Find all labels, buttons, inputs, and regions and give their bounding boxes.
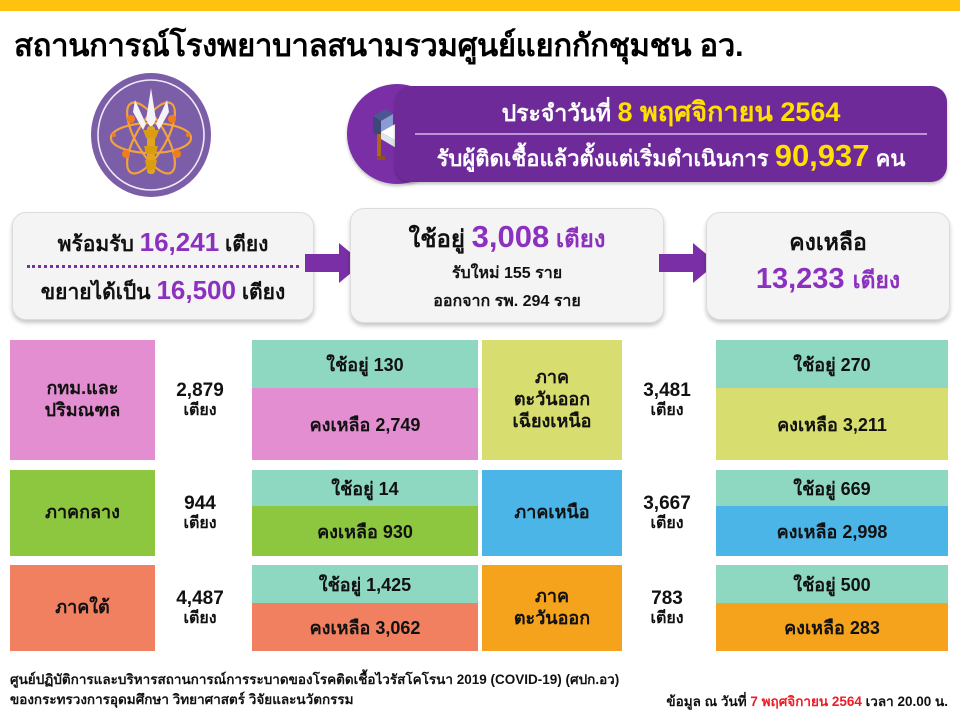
ministry-seal-logo: [88, 72, 214, 198]
region-beds-value: 2,879: [176, 381, 224, 402]
cumulative-admissions-value: 90,937: [775, 138, 870, 173]
region-beds-total-right-1: 3,481เตียง: [625, 340, 709, 460]
region-beds-total-right-3: 783เตียง: [625, 565, 709, 651]
report-date-value: 8 พฤศจิกายน 2564: [617, 97, 840, 127]
region-name-right-2: ภาคเหนือ: [482, 470, 622, 556]
region-name-right-1: ภาคตะวันออกเฉียงเหนือ: [482, 340, 622, 460]
region-beds-unit: เตียง: [183, 610, 216, 628]
region-name-left-3: ภาคใต้: [10, 565, 155, 651]
region-name-line: ภาค: [535, 586, 569, 608]
report-date-prefix: ประจำวันที่: [502, 100, 612, 126]
region-beds-value: 3,667: [643, 494, 691, 515]
region-remaining-right-1: คงเหลือ 3,211: [716, 388, 948, 460]
region-inuse-left-3: ใช้อยู่ 1,425: [252, 565, 478, 603]
footer-asof: ข้อมูล ณ วันที่ 7 พฤศจิกายน 2564 เวลา 20…: [666, 690, 948, 712]
region-beds-value: 3,481: [643, 381, 691, 402]
region-beds-value: 4,487: [176, 589, 224, 610]
region-inuse-right-1: ใช้อยู่ 270: [716, 340, 948, 388]
region-name-line: ปริมณฑล: [45, 400, 121, 422]
region-beds-unit: เตียง: [650, 610, 683, 628]
cumulative-admissions-label: รับผู้ติดเชื้อแล้วตั้งแต่เริ่มดำเนินการ: [437, 146, 769, 171]
region-name-line: ตะวันออก: [514, 389, 590, 411]
footer-line-2: ของกระทรวงการอุดมศึกษา วิทยาศาสตร์ วิจัย…: [10, 688, 354, 710]
beds-ready-box: พร้อมรับ 16,241 เตียง ขยายได้เป็น 16,500…: [12, 212, 314, 320]
region-beds-value: 944: [184, 494, 216, 515]
region-name-line: เฉียงเหนือ: [513, 411, 592, 433]
region-name-line: ภาคเหนือ: [514, 502, 589, 524]
region-beds-unit: เตียง: [183, 515, 216, 533]
beds-ready-value: 16,241: [140, 227, 220, 257]
region-beds-total-right-2: 3,667เตียง: [625, 470, 709, 556]
top-accent-bar: [0, 0, 960, 11]
beds-expandable-line: ขยายได้เป็น 16,500 เตียง: [13, 275, 313, 309]
beds-remaining-line: 13,233 เตียง: [707, 263, 949, 299]
asof-prefix: ข้อมูล ณ วันที่: [666, 694, 746, 709]
cumulative-admissions-unit: คน: [876, 146, 906, 171]
region-name-left-1: กทม.และปริมณฑล: [10, 340, 155, 460]
region-name-line: ตะวันออก: [514, 608, 590, 630]
region-name-line: ภาคกลาง: [45, 502, 120, 524]
infographic-page: สถานการณ์โรงพยาบาลสนามรวมศูนย์แยกกักชุมช…: [0, 0, 960, 720]
region-name-left-2: ภาคกลาง: [10, 470, 155, 556]
region-beds-value: 783: [651, 589, 683, 610]
beds-expandable-label: ขยายได้เป็น: [41, 281, 151, 304]
beds-ready-label: พร้อมรับ: [58, 233, 134, 256]
beds-remaining-value: 13,233: [756, 263, 845, 295]
beds-inuse-box: ใช้อยู่ 3,008 เตียง รับใหม่ 155 ราย ออกจ…: [350, 208, 664, 323]
region-beds-total-left-2: 944เตียง: [158, 470, 242, 556]
beds-ready-unit: เตียง: [225, 233, 268, 256]
new-admissions-label: รับใหม่: [452, 265, 500, 282]
discharged-value: 294: [523, 293, 550, 310]
beds-inuse-value: 3,008: [472, 219, 550, 254]
region-remaining-left-2: คงเหลือ 930: [252, 506, 478, 556]
region-inuse-left-1: ใช้อยู่ 130: [252, 340, 478, 388]
discharged-unit: ราย: [554, 293, 581, 310]
new-admissions-value: 155: [504, 265, 531, 282]
region-beds-unit: เตียง: [183, 402, 216, 420]
beds-inuse-label: ใช้อยู่: [409, 226, 465, 253]
region-beds-unit: เตียง: [650, 402, 683, 420]
beds-expandable-value: 16,500: [156, 275, 236, 305]
report-date-line: ประจำวันที่ 8 พฤศจิกายน 2564: [395, 90, 947, 133]
beds-expandable-unit: เตียง: [242, 281, 285, 304]
new-admissions-line: รับใหม่ 155 ราย: [351, 261, 663, 286]
cumulative-admissions-line: รับผู้ติดเชื้อแล้วตั้งแต่เริ่มดำเนินการ …: [395, 138, 947, 176]
footer-line-1: ศูนย์ปฏิบัติการและบริหารสถานการณ์การระบา…: [10, 668, 619, 690]
region-remaining-right-2: คงเหลือ 2,998: [716, 506, 948, 556]
region-remaining-right-3: คงเหลือ 283: [716, 603, 948, 651]
region-name-line: กทม.และ: [47, 378, 119, 400]
beds-remaining-unit: เตียง: [853, 267, 901, 293]
region-remaining-left-1: คงเหลือ 2,749: [252, 388, 478, 460]
beds-inuse-line: ใช้อยู่ 3,008 เตียง: [351, 219, 663, 258]
region-inuse-right-3: ใช้อยู่ 500: [716, 565, 948, 603]
region-inuse-left-2: ใช้อยู่ 14: [252, 470, 478, 506]
beds-remaining-label: คงเหลือ: [707, 225, 949, 261]
region-remaining-left-3: คงเหลือ 3,062: [252, 603, 478, 651]
beds-inuse-unit: เตียง: [556, 226, 606, 253]
beds-remaining-box: คงเหลือ 13,233 เตียง: [706, 212, 950, 320]
header-summary-badge: ประจำวันที่ 8 พฤศจิกายน 2564 รับผู้ติดเช…: [395, 86, 947, 182]
dotted-divider: [27, 265, 299, 268]
region-beds-total-left-3: 4,487เตียง: [158, 565, 242, 651]
asof-time: 20.00 น.: [897, 694, 948, 709]
page-title: สถานการณ์โรงพยาบาลสนามรวมศูนย์แยกกักชุมช…: [14, 20, 944, 70]
discharged-line: ออกจาก รพ. 294 ราย: [351, 289, 663, 314]
badge-divider: [415, 133, 927, 135]
region-beds-unit: เตียง: [650, 515, 683, 533]
region-name-line: ภาคใต้: [55, 597, 110, 619]
region-name-right-3: ภาคตะวันออก: [482, 565, 622, 651]
discharged-label: ออกจาก รพ.: [433, 293, 518, 310]
region-name-line: ภาค: [535, 367, 569, 389]
region-inuse-right-2: ใช้อยู่ 669: [716, 470, 948, 506]
region-beds-total-left-1: 2,879เตียง: [158, 340, 242, 460]
asof-time-label: เวลา: [866, 694, 894, 709]
beds-ready-line: พร้อมรับ 16,241 เตียง: [13, 227, 313, 261]
new-admissions-unit: ราย: [535, 265, 562, 282]
asof-date: 7 พฤศจิกายน 2564: [750, 694, 862, 709]
